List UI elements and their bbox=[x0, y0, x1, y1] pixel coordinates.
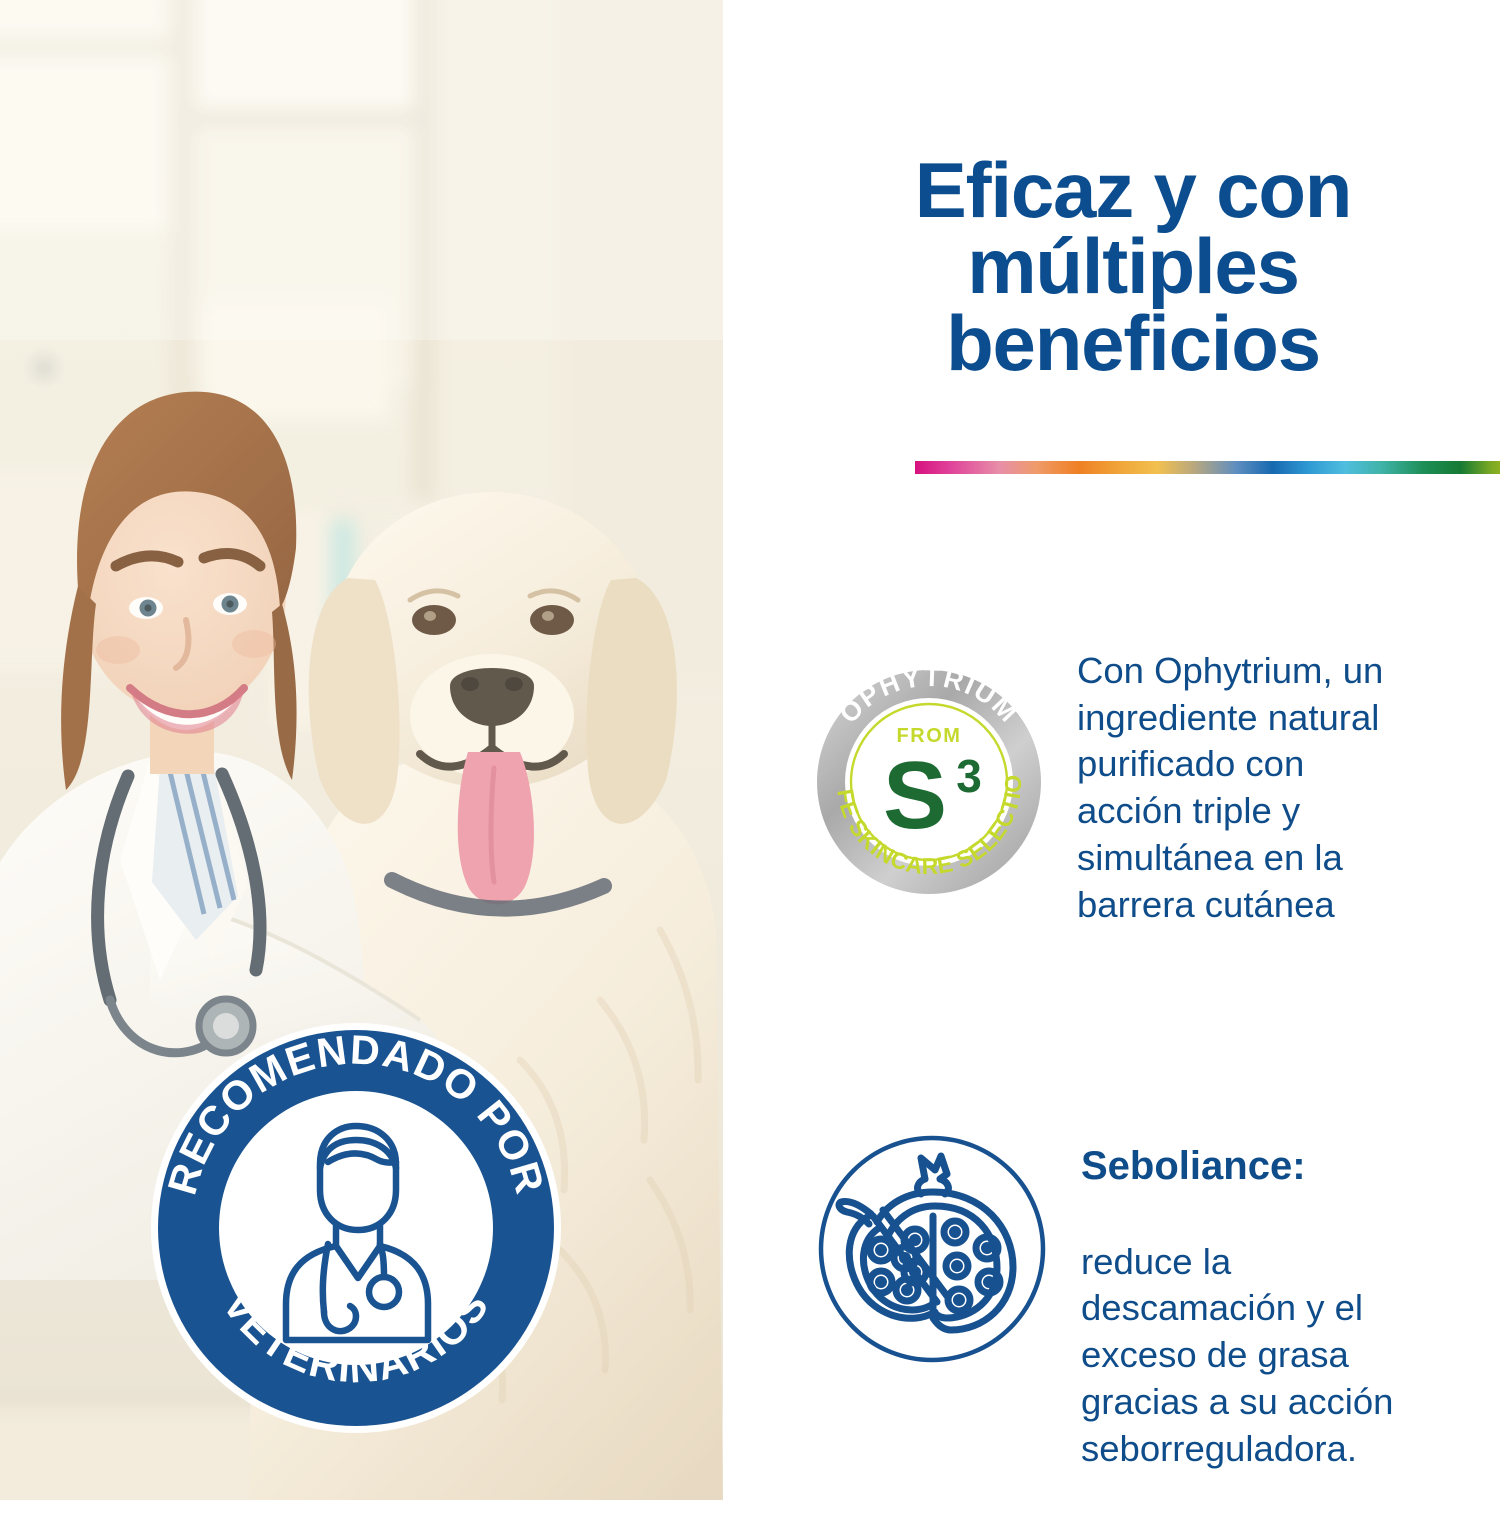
hero-photo: RECOMENDADO POR VETERINARIOS bbox=[0, 0, 723, 1500]
benefit-ophytrium-text: Con Ophytrium, un ingrediente natural pu… bbox=[1077, 648, 1487, 928]
promo-page: RECOMENDADO POR VETERINARIOS bbox=[0, 0, 1500, 1500]
benefit-seboliance-title: Seboliance: bbox=[1081, 1143, 1500, 1190]
benefit-seboliance-text: Seboliance: reduce la descamación y el e… bbox=[1081, 1096, 1500, 1519]
benefit-item-seboliance: Seboliance: reduce la descamación y el e… bbox=[803, 1096, 1500, 1519]
page-title: Eficaz y con múltiples beneficios bbox=[783, 152, 1483, 381]
vet-badge-svg: RECOMENDADO POR VETERINARIOS bbox=[150, 1022, 562, 1434]
ophytrium-s3-seal-icon: OPHYTRIUM SAFE SKINCARE SELECTION FROM S… bbox=[803, 656, 1049, 902]
pomegranate-svg bbox=[807, 1124, 1057, 1374]
seal-superscript-3: 3 bbox=[956, 750, 982, 802]
benefit-item-ophytrium: OPHYTRIUM SAFE SKINCARE SELECTION FROM S… bbox=[803, 648, 1500, 928]
rainbow-divider bbox=[915, 461, 1500, 474]
seal-s-glyph: S bbox=[883, 742, 947, 849]
pomegranate-icon bbox=[807, 1124, 1057, 1374]
recommended-by-vets-badge: RECOMENDADO POR VETERINARIOS bbox=[150, 1022, 562, 1434]
content-column: Eficaz y con múltiples beneficios bbox=[723, 0, 1500, 1500]
benefit-seboliance-body: reduce la descamación y el exceso de gra… bbox=[1081, 1239, 1500, 1473]
ophytrium-seal-svg: OPHYTRIUM SAFE SKINCARE SELECTION FROM S… bbox=[803, 656, 1049, 902]
